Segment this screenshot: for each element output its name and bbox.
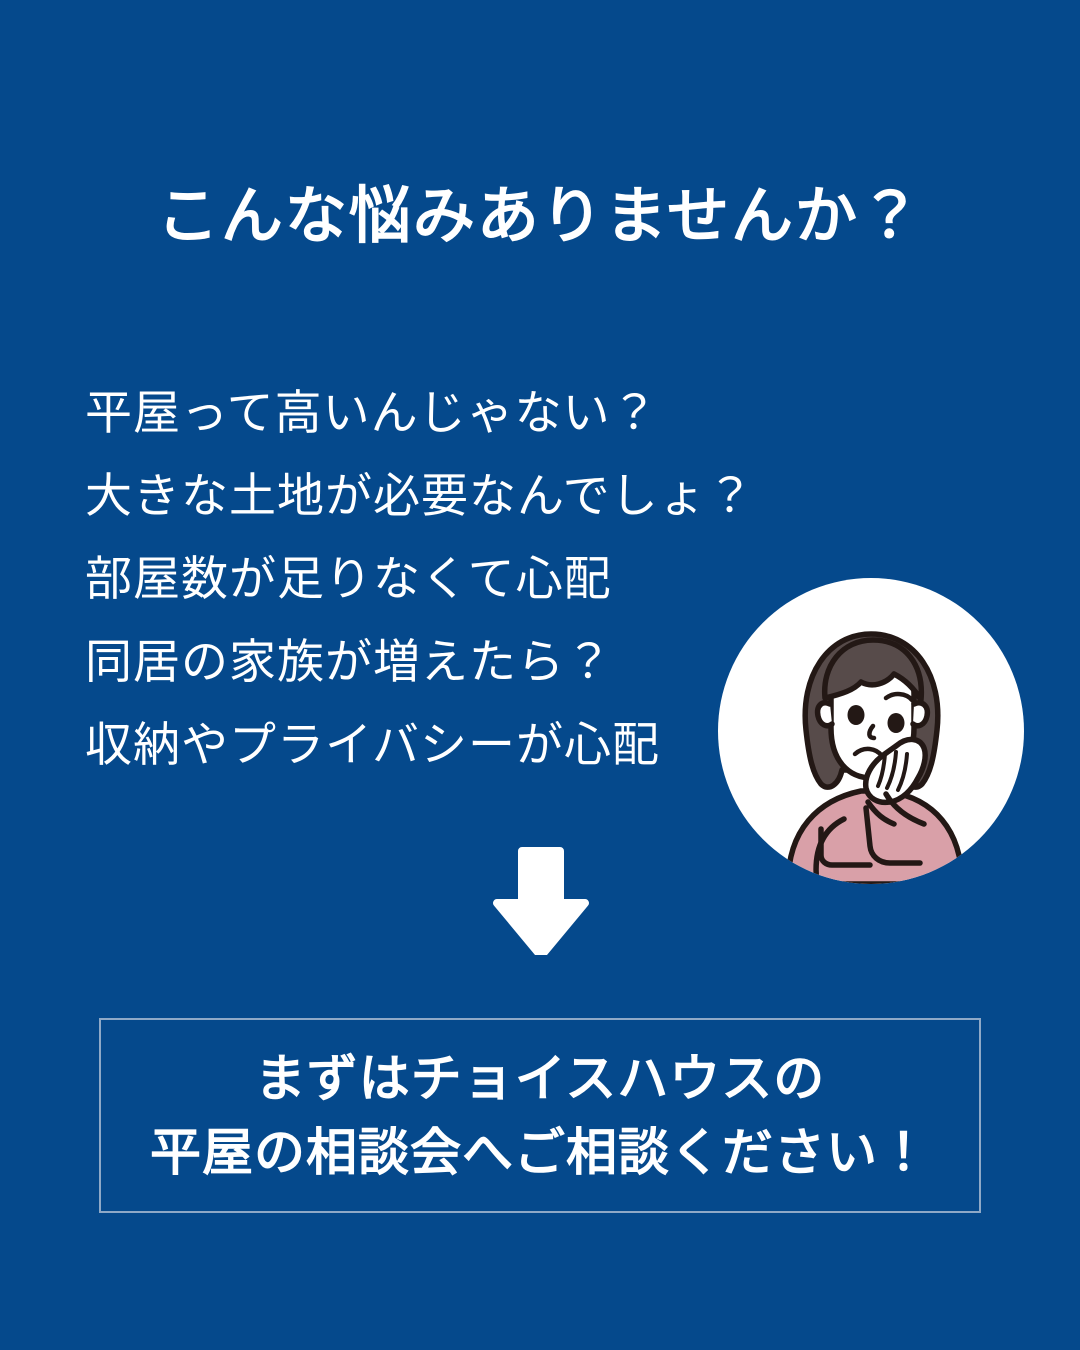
worry-list: 平屋って高いんじゃない？ 大きな土地が必要なんでしょ？ 部屋数が足りなくて心配 …	[85, 371, 785, 786]
list-item: 大きな土地が必要なんでしょ？	[85, 454, 785, 537]
list-item: 平屋って高いんじゃない？	[85, 371, 785, 454]
list-item: 部屋数が足りなくて心配	[85, 537, 785, 620]
list-item: 同居の家族が増えたら？	[85, 620, 785, 703]
arrow-down-icon	[487, 843, 593, 955]
cta-box[interactable]: まずはチョイスハウスの 平屋の相談会へご相談ください！	[99, 1018, 981, 1213]
page-title: こんな悩みありませんか？	[0, 186, 1080, 248]
worried-woman-icon	[718, 578, 1024, 884]
cta-line-1: まずはチョイスハウスの	[255, 1042, 825, 1116]
list-item: 収納やプライバシーが心配	[85, 703, 785, 786]
cta-line-2: 平屋の相談会へご相談ください！	[150, 1116, 930, 1190]
poster-canvas: こんな悩みありませんか？ 平屋って高いんじゃない？ 大きな土地が必要なんでしょ？…	[0, 0, 1080, 1350]
